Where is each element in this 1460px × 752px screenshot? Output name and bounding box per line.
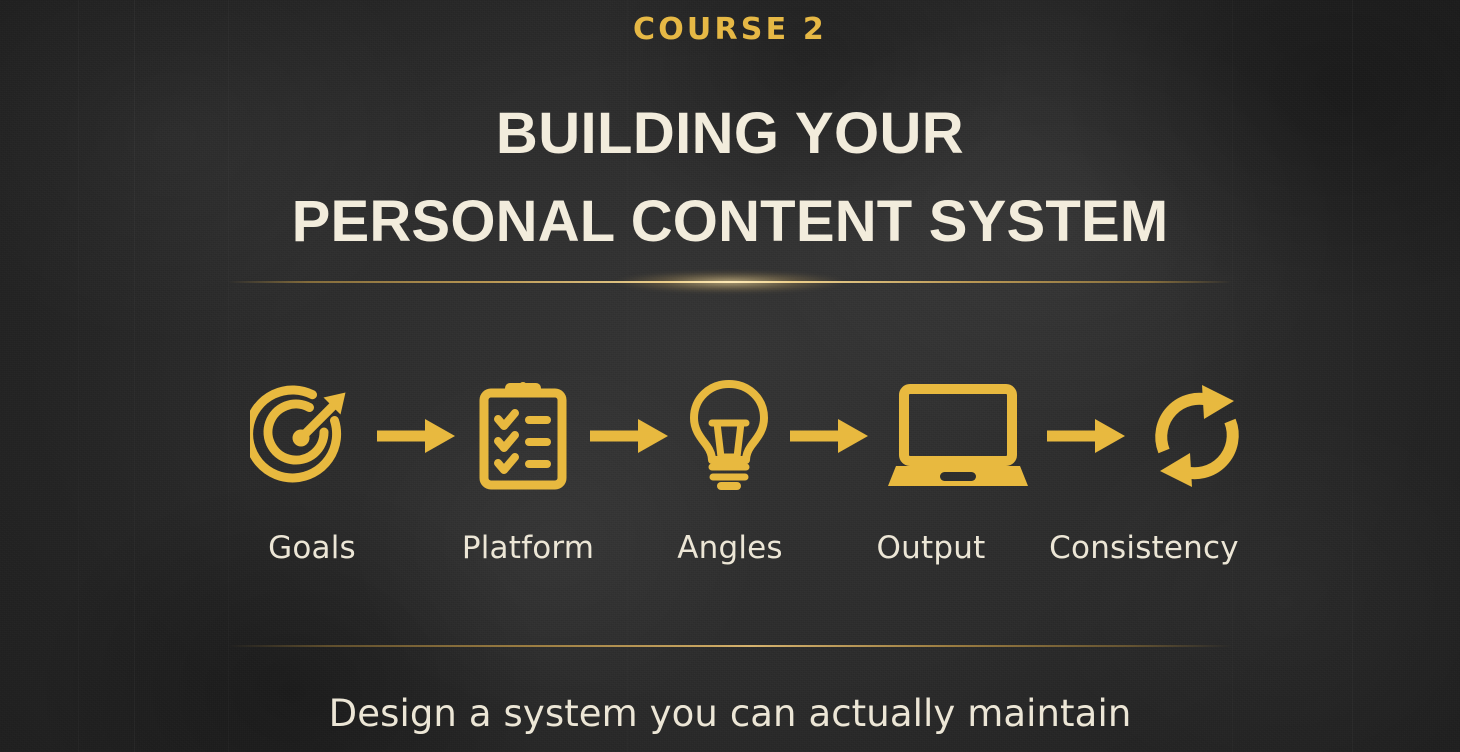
divider-bottom xyxy=(228,644,1232,647)
flow-step-angles xyxy=(687,379,771,493)
process-flow-row xyxy=(250,378,1250,493)
clipboard-checklist-icon xyxy=(475,381,571,491)
flow-label-goals: Goals xyxy=(268,530,356,566)
page-title: BUILDING YOUR PERSONAL CONTENT SYSTEM xyxy=(0,90,1460,266)
flow-label-angles: Angles xyxy=(677,530,783,566)
divider-top xyxy=(228,280,1232,283)
lightbulb-icon xyxy=(687,379,771,493)
arrow-right-icon xyxy=(786,414,872,458)
flow-step-output xyxy=(888,384,1028,488)
laptop-icon xyxy=(888,384,1028,488)
flow-step-platform xyxy=(475,381,571,491)
course-eyebrow-label: COURSE 2 xyxy=(0,12,1460,47)
flow-step-goals xyxy=(250,380,358,492)
flow-step-consistency xyxy=(1144,383,1250,489)
title-line-1: BUILDING YOUR xyxy=(0,90,1460,178)
arrow-right-icon xyxy=(1043,414,1129,458)
flow-step-labels: Goals Platform Angles Output Consistency xyxy=(250,530,1250,578)
course-slide: COURSE 2 BUILDING YOUR PERSONAL CONTENT … xyxy=(0,0,1460,752)
arrow-right-icon xyxy=(586,414,672,458)
flow-label-consistency: Consistency xyxy=(1049,530,1239,566)
title-line-2: PERSONAL CONTENT SYSTEM xyxy=(0,178,1460,266)
divider-top-glow xyxy=(580,260,880,304)
slide-caption: Design a system you can actually maintai… xyxy=(0,692,1460,735)
arrow-right-icon xyxy=(373,414,459,458)
target-icon xyxy=(250,380,358,492)
divider-bottom-line xyxy=(228,645,1232,647)
flow-label-output: Output xyxy=(877,530,986,566)
refresh-cycle-icon xyxy=(1144,383,1250,489)
flow-label-platform: Platform xyxy=(462,530,594,566)
